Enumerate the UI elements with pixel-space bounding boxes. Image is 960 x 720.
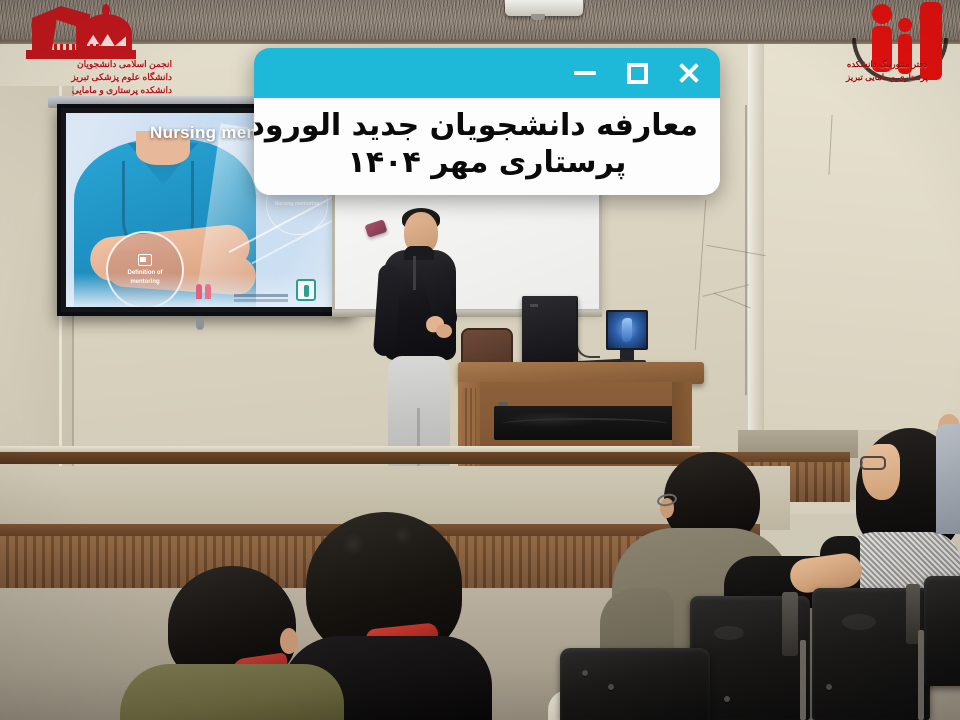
event-title-line-2: پرستاری مهر ۱۴۰۴ [276,145,698,182]
monitor [606,310,648,350]
event-title-line-1: معارفه دانشجویان جدید الورود [276,108,698,145]
ceiling-projector [505,0,583,16]
seat-scuff [842,614,876,630]
seat-bolt [608,684,614,690]
screenshot-canvas: Nursing mentoring Definition of mentorin… [0,0,960,720]
desk-wave-decoration [494,406,676,440]
monitor-screen [608,312,646,348]
window-body: معارفه دانشجویان جدید الورود پرستاری مهر… [254,98,720,195]
person-figure-icon [872,4,892,24]
logo-left-line-3: دانشکده پرستاری و مامایی [6,84,172,97]
seat-bolt [826,684,832,690]
eyeglasses-icon [860,456,886,470]
seat-bolt [582,670,588,676]
pc-tower [522,296,578,366]
seat-bolt [724,696,730,702]
wall-baseboard [0,452,700,464]
association-emblem-icon [24,4,136,60]
maximize-button[interactable] [624,60,650,86]
people-icon [196,279,218,299]
maximize-icon [627,63,648,84]
mentoring-logo-text: دفتر منتورینگ دانشکده پرستاری و مامایی ت… [824,58,950,84]
window-title-bar[interactable] [254,48,720,98]
association-logo-text: انجمن اسلامی دانشجویان دانشگاه علوم پزشک… [6,58,176,97]
ear [280,628,298,654]
auditorium-seat [560,648,710,720]
logo-right-line-2: پرستاری و مامایی تبریز [824,71,950,84]
seat-frame [800,640,806,720]
person-figure-icon [898,18,912,32]
logo-right-line-1: دفتر منتورینگ دانشکده [824,58,950,71]
minimize-button[interactable] [572,60,598,86]
close-icon [677,61,701,85]
logo-left-line-1: انجمن اسلامی دانشجویان [6,58,172,71]
logo-left-line-2: دانشگاه علوم پزشکی تبریز [6,71,172,84]
close-button[interactable] [676,60,702,86]
presentation-icon [138,254,152,266]
cables [576,300,600,358]
seat-scuff [714,626,744,640]
slide-footer [66,273,346,307]
mentoring-office-logo: دفتر منتورینگ دانشکده پرستاری و مامایی ت… [824,2,956,102]
desk-top [458,362,704,384]
audience-partial-body [936,424,960,534]
presenter-collar [404,246,434,260]
wall-crack [745,105,747,395]
seat-frame [918,630,924,720]
desk-logo-plate [498,402,508,406]
audience-face [862,444,900,500]
seat-armrest [782,592,798,656]
screen-hook [196,318,204,330]
olive-jacket [120,664,344,720]
footer-text-block [234,294,288,297]
university-seal-icon [296,279,316,301]
presenter-hand [436,324,452,338]
auditorium-seat [924,576,960,686]
title-card-window: معارفه دانشجویان جدید الورود پرستاری مهر… [254,48,720,195]
presenter-zipper [413,256,416,290]
minimize-icon [574,71,596,75]
islamic-students-association-logo: انجمن اسلامی دانشجویان دانشگاه علوم پزشک… [6,4,176,96]
